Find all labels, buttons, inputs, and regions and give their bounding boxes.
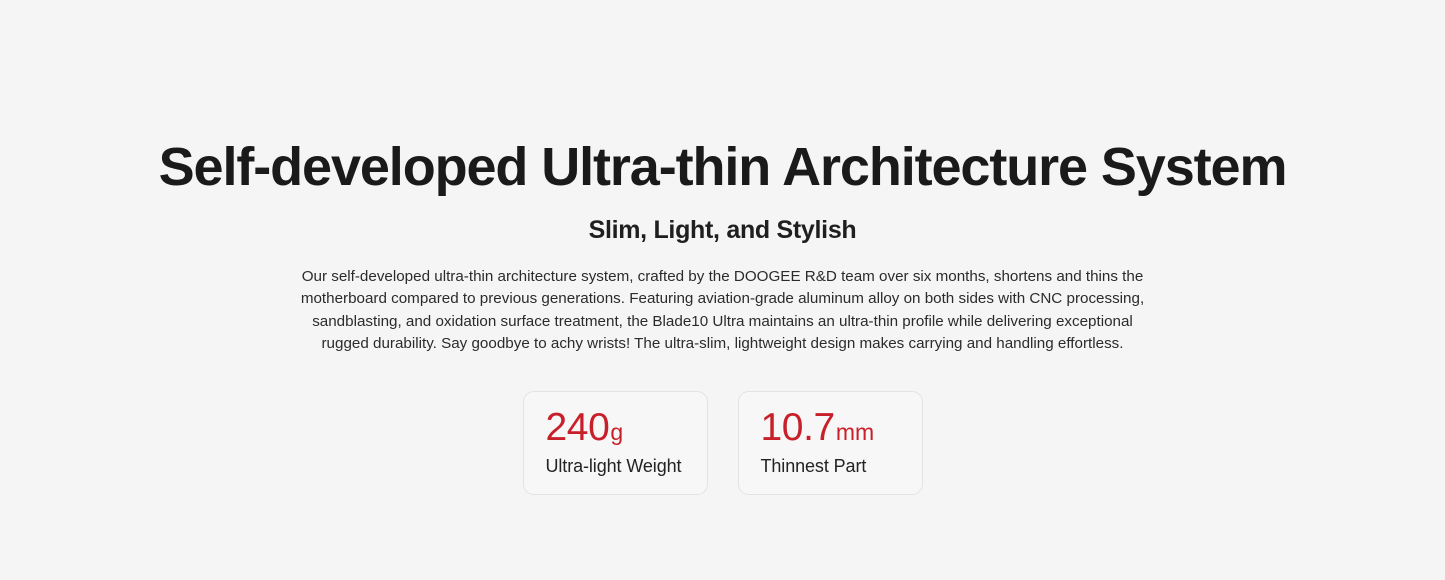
stat-number-thickness: 10.7 [761, 408, 835, 447]
stat-value-weight: 240 g [546, 408, 624, 447]
ultra-thin-architecture-section: Self-developed Ultra-thin Architecture S… [0, 0, 1445, 580]
stat-card-thickness: 10.7 mm Thinnest Part [738, 391, 923, 496]
page-subtitle: Slim, Light, and Stylish [589, 217, 857, 245]
stats-row: 240 g Ultra-light Weight 10.7 mm Thinnes… [523, 391, 923, 496]
stat-value-thickness: 10.7 mm [761, 408, 875, 447]
stat-card-weight: 240 g Ultra-light Weight [523, 391, 708, 496]
stat-unit-thickness: mm [836, 421, 874, 444]
stat-label-thickness: Thinnest Part [761, 456, 867, 477]
description-paragraph: Our self-developed ultra-thin architectu… [300, 266, 1145, 356]
stat-unit-weight: g [610, 421, 623, 444]
stat-label-weight: Ultra-light Weight [546, 456, 682, 477]
stat-number-weight: 240 [546, 408, 610, 447]
page-title: Self-developed Ultra-thin Architecture S… [159, 140, 1287, 194]
